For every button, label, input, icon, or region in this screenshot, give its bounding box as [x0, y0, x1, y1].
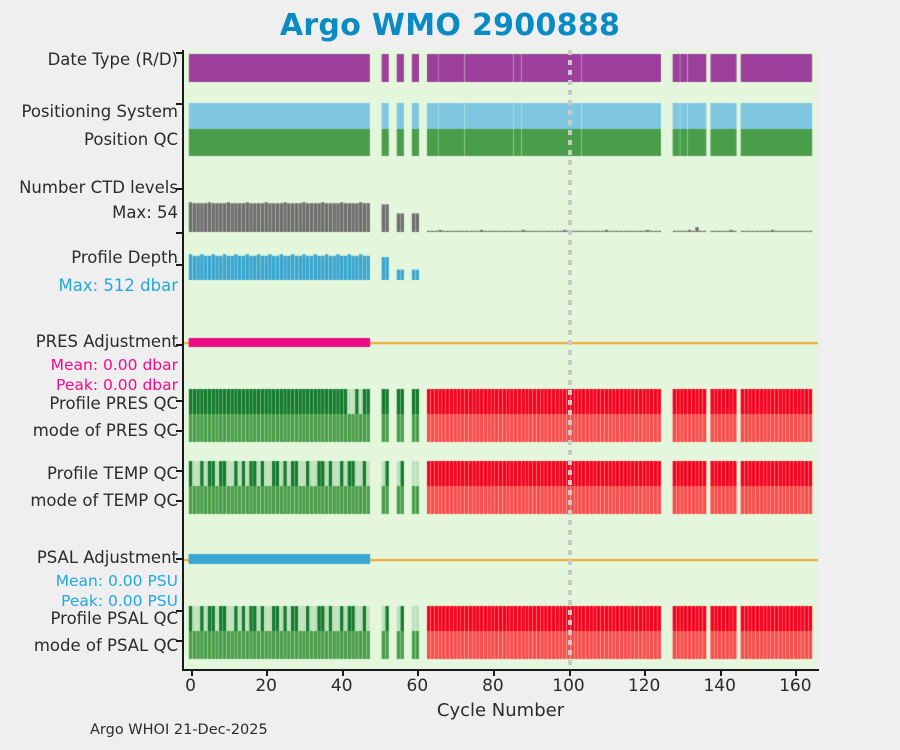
y-tick — [176, 103, 183, 105]
x-axis-line — [182, 669, 819, 671]
x-axis-title: Cycle Number — [183, 700, 818, 721]
y-axis-line — [182, 50, 184, 670]
label-psal-mean: Mean: 0.00 PSU — [56, 572, 178, 590]
label-ctd-levels-max: Max: 54 — [112, 203, 178, 222]
x-tick — [417, 669, 419, 676]
y-tick — [176, 400, 183, 402]
x-tick — [342, 669, 344, 676]
label-ctd-levels: Number CTD levels — [19, 178, 178, 197]
label-pres-adjustment: PRES Adjustment — [36, 332, 178, 351]
label-date-type: Date Type (R/D) — [48, 50, 178, 69]
y-tick — [176, 430, 183, 432]
page-title: Argo WMO 2900888 — [0, 8, 900, 43]
x-tick — [493, 669, 495, 676]
label-mode-temp-qc: mode of TEMP QC — [30, 491, 178, 510]
y-tick — [176, 500, 183, 502]
footer-credit: Argo WHOI 21-Dec-2025 — [90, 722, 268, 738]
x-tick — [266, 669, 268, 676]
label-profile-depth-max: Max: 512 dbar — [59, 276, 179, 295]
y-tick — [176, 232, 183, 234]
x-tick-label: 60 — [407, 676, 429, 696]
x-tick-label: 100 — [552, 676, 584, 696]
plot-area — [183, 50, 818, 670]
y-tick — [176, 344, 183, 346]
label-psal-peak: Peak: 0.00 PSU — [61, 592, 178, 610]
x-tick-label: 160 — [779, 676, 811, 696]
x-tick-label: 0 — [185, 676, 196, 696]
x-tick — [569, 669, 571, 676]
y-tick — [176, 264, 183, 266]
label-psal-adjustment: PSAL Adjustment — [37, 548, 178, 567]
y-tick — [176, 610, 183, 612]
y-tick — [176, 558, 183, 560]
x-tick-label: 140 — [703, 676, 735, 696]
label-profile-pres-qc: Profile PRES QC — [49, 394, 178, 413]
x-tick — [644, 669, 646, 676]
y-tick — [176, 470, 183, 472]
x-tick — [720, 669, 722, 676]
label-position-qc: Position QC — [84, 130, 178, 149]
x-tick-label: 80 — [482, 676, 504, 696]
label-pres-mean: Mean: 0.00 dbar — [51, 356, 178, 374]
reference-line-cycle-100 — [568, 50, 572, 670]
y-tick — [176, 188, 183, 190]
label-pres-peak: Peak: 0.00 dbar — [56, 376, 178, 394]
x-tick-label: 40 — [331, 676, 353, 696]
x-tick — [191, 669, 193, 676]
x-tick-label: 120 — [628, 676, 660, 696]
y-tick — [176, 52, 183, 54]
label-positioning-system: Positioning System — [21, 102, 178, 121]
label-mode-pres-qc: mode of PRES QC — [33, 421, 178, 440]
x-tick-label: 20 — [255, 676, 277, 696]
label-profile-depth: Profile Depth — [71, 248, 178, 267]
label-profile-temp-qc: Profile TEMP QC — [47, 464, 178, 483]
label-mode-psal-qc: mode of PSAL QC — [34, 636, 178, 655]
y-tick — [176, 640, 183, 642]
label-profile-psal-qc: Profile PSAL QC — [50, 609, 178, 628]
x-tick — [795, 669, 797, 676]
